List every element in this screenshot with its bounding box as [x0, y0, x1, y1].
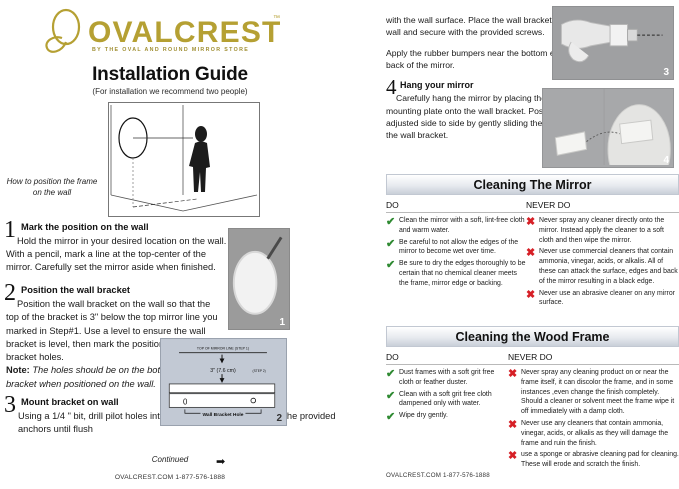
care-item: ✖ Never use an abrasive cleaner on any m…: [526, 289, 679, 309]
care-item: ✔ Wipe dry gently.: [386, 411, 508, 423]
care-frame-columns: DO ✔ Dust frames with a soft grit free c…: [386, 352, 679, 472]
step-2-number: 2: [4, 281, 16, 305]
check-icon: ✔: [386, 390, 399, 410]
figure-2-number: 2: [276, 413, 282, 424]
care-panel-frame: Cleaning the Wood Frame DO ✔ Dust frames…: [386, 326, 679, 472]
check-icon: ✔: [386, 259, 399, 288]
page-title: Installation Guide: [0, 64, 340, 86]
page-subtitle: (For installation we recommend two peopl…: [0, 87, 340, 96]
bracket-measure-note-text: (STEP 2): [253, 369, 266, 373]
care-item: ✔ Be careful to not allow the edges of t…: [386, 238, 526, 258]
care-item: ✔ Clean the mirror with a soft, lint-fre…: [386, 216, 526, 236]
right-column: with the wall surface. Place the wall br…: [386, 0, 679, 489]
step-1-body: Hold the mirror in your desired location…: [6, 235, 228, 275]
trademark-symbol: ™: [273, 15, 280, 22]
bracket-measure-text: 3" (7.6 cm): [210, 368, 236, 374]
care-mirror-never-label: NEVER DO: [526, 200, 679, 213]
care-item: ✔ Clean with a soft grit free cloth damp…: [386, 390, 508, 410]
care-item-text: Clean the mirror with a soft, lint-free …: [399, 216, 526, 236]
care-item: ✔ Be sure to dry the edges thoroughly to…: [386, 259, 526, 288]
step-4-number: 4: [386, 77, 397, 98]
continued-label: Continued: [0, 455, 340, 464]
care-item-text: Never use commercial cleaners that conta…: [539, 247, 679, 286]
bracket-diagram-svg: TOP OF MIRROR LINE (STEP 1) 3" (7.6 cm) …: [161, 339, 284, 423]
cross-icon: ✖: [508, 450, 521, 470]
care-item-text: use a sponge or abrasive cleaning pad fo…: [521, 450, 679, 470]
installation-guide-page: OVALCREST ™ BY THE OVAL AND ROUND MIRROR…: [0, 0, 679, 489]
figure-hanging-photo: 4: [542, 88, 674, 168]
drill-photo-svg: [553, 7, 671, 77]
care-item-text: Be sure to dry the edges thoroughly to b…: [399, 259, 526, 288]
cross-icon: ✖: [508, 419, 521, 448]
care-mirror-title: Cleaning The Mirror: [473, 178, 591, 192]
care-item: ✖ Never use any cleaners that contain am…: [508, 419, 679, 448]
care-mirror-header: Cleaning The Mirror: [386, 174, 679, 195]
mirror-photo-svg: [229, 229, 287, 327]
step-2-heading: Position the wall bracket: [21, 285, 376, 297]
care-mirror-columns: DO ✔ Clean the mirror with a soft, lint-…: [386, 200, 679, 310]
care-item-text: Never spray any cleaner directly onto th…: [539, 216, 679, 245]
care-frame-do-column: DO ✔ Dust frames with a soft grit free c…: [386, 352, 508, 472]
care-item: ✖ Never spray any cleaner directly onto …: [526, 216, 679, 245]
care-item: ✖ Never spray any cleaning product on or…: [508, 368, 679, 417]
care-panel-mirror: Cleaning The Mirror DO ✔ Clean the mirro…: [386, 174, 679, 310]
left-column: OVALCREST ™ BY THE OVAL AND ROUND MIRROR…: [0, 0, 378, 489]
room-diagram-svg: [109, 103, 259, 216]
footer-left: OVALCREST.COM 1-877-576-1888: [0, 474, 340, 481]
footer-right: OVALCREST.COM 1-877-576-1888: [386, 472, 490, 479]
care-item-text: Clean with a soft grit free cloth dampen…: [399, 390, 508, 410]
brand-name: OVALCREST: [88, 16, 282, 50]
brand-logo: OVALCREST ™ BY THE OVAL AND ROUND MIRROR…: [40, 10, 330, 58]
step-1-number: 1: [4, 218, 16, 242]
care-item-text: Wipe dry gently.: [399, 411, 448, 423]
figure-4-number: 4: [663, 155, 669, 166]
figure-3-number: 3: [663, 67, 669, 78]
check-icon: ✔: [386, 368, 399, 388]
cross-icon: ✖: [526, 216, 539, 245]
bracket-hole-label-text: Wall Bracket Hole: [202, 412, 243, 418]
figure-mirror-photo: 1: [228, 228, 290, 330]
care-frame-title: Cleaning the Wood Frame: [456, 330, 610, 344]
cross-icon: ✖: [526, 289, 539, 309]
care-item: ✖ use a sponge or abrasive cleaning pad …: [508, 450, 679, 470]
person-silhouette: [189, 126, 210, 192]
check-icon: ✔: [386, 216, 399, 236]
svg-text:0: 0: [183, 397, 188, 406]
cross-icon: ✖: [508, 368, 521, 417]
step-3-number: 3: [4, 393, 16, 417]
continued-arrow-icon: ➡: [216, 455, 225, 468]
step-1-heading: Mark the position on the wall: [21, 222, 364, 234]
figure-bracket-diagram: TOP OF MIRROR LINE (STEP 1) 3" (7.6 cm) …: [160, 338, 287, 426]
care-frame-never-label: NEVER DO: [508, 352, 679, 365]
brand-tagline: BY THE OVAL AND ROUND MIRROR STORE: [92, 47, 249, 53]
figure-drill-photo: 3: [552, 6, 674, 80]
check-icon: ✔: [386, 238, 399, 258]
room-position-diagram: [108, 102, 260, 217]
care-mirror-do-label: DO: [386, 200, 526, 213]
care-item-text: Never use any cleaners that contain ammo…: [521, 419, 679, 448]
care-frame-do-label: DO: [386, 352, 508, 365]
care-item: ✖ Never use commercial cleaners that con…: [526, 247, 679, 286]
note-label: Note:: [6, 365, 30, 375]
figure-1-number: 1: [279, 317, 285, 328]
care-item: ✔ Dust frames with a soft grit free clot…: [386, 368, 508, 388]
check-icon: ✔: [386, 411, 399, 423]
care-mirror-do-column: DO ✔ Clean the mirror with a soft, lint-…: [386, 200, 526, 310]
care-frame-header: Cleaning the Wood Frame: [386, 326, 679, 347]
hanging-photo-svg: [543, 89, 671, 165]
care-mirror-never-column: NEVER DO ✖ Never spray any cleaner direc…: [526, 200, 679, 310]
cross-icon: ✖: [526, 247, 539, 286]
care-item-text: Be careful to not allow the edges of the…: [399, 238, 526, 258]
care-item-text: Never use an abrasive cleaner on any mir…: [539, 289, 679, 309]
diagram-caption: How to position the frame on the wall: [4, 177, 100, 199]
bracket-top-label-text: TOP OF MIRROR LINE (STEP 1): [197, 347, 249, 351]
care-item-text: Never spray any cleaning product on or n…: [521, 368, 679, 417]
care-frame-never-column: NEVER DO ✖ Never spray any cleaning prod…: [508, 352, 679, 472]
care-item-text: Dust frames with a soft grit free cloth …: [399, 368, 508, 388]
step-1: 1 Mark the position on the wall Hold the…: [4, 222, 364, 274]
